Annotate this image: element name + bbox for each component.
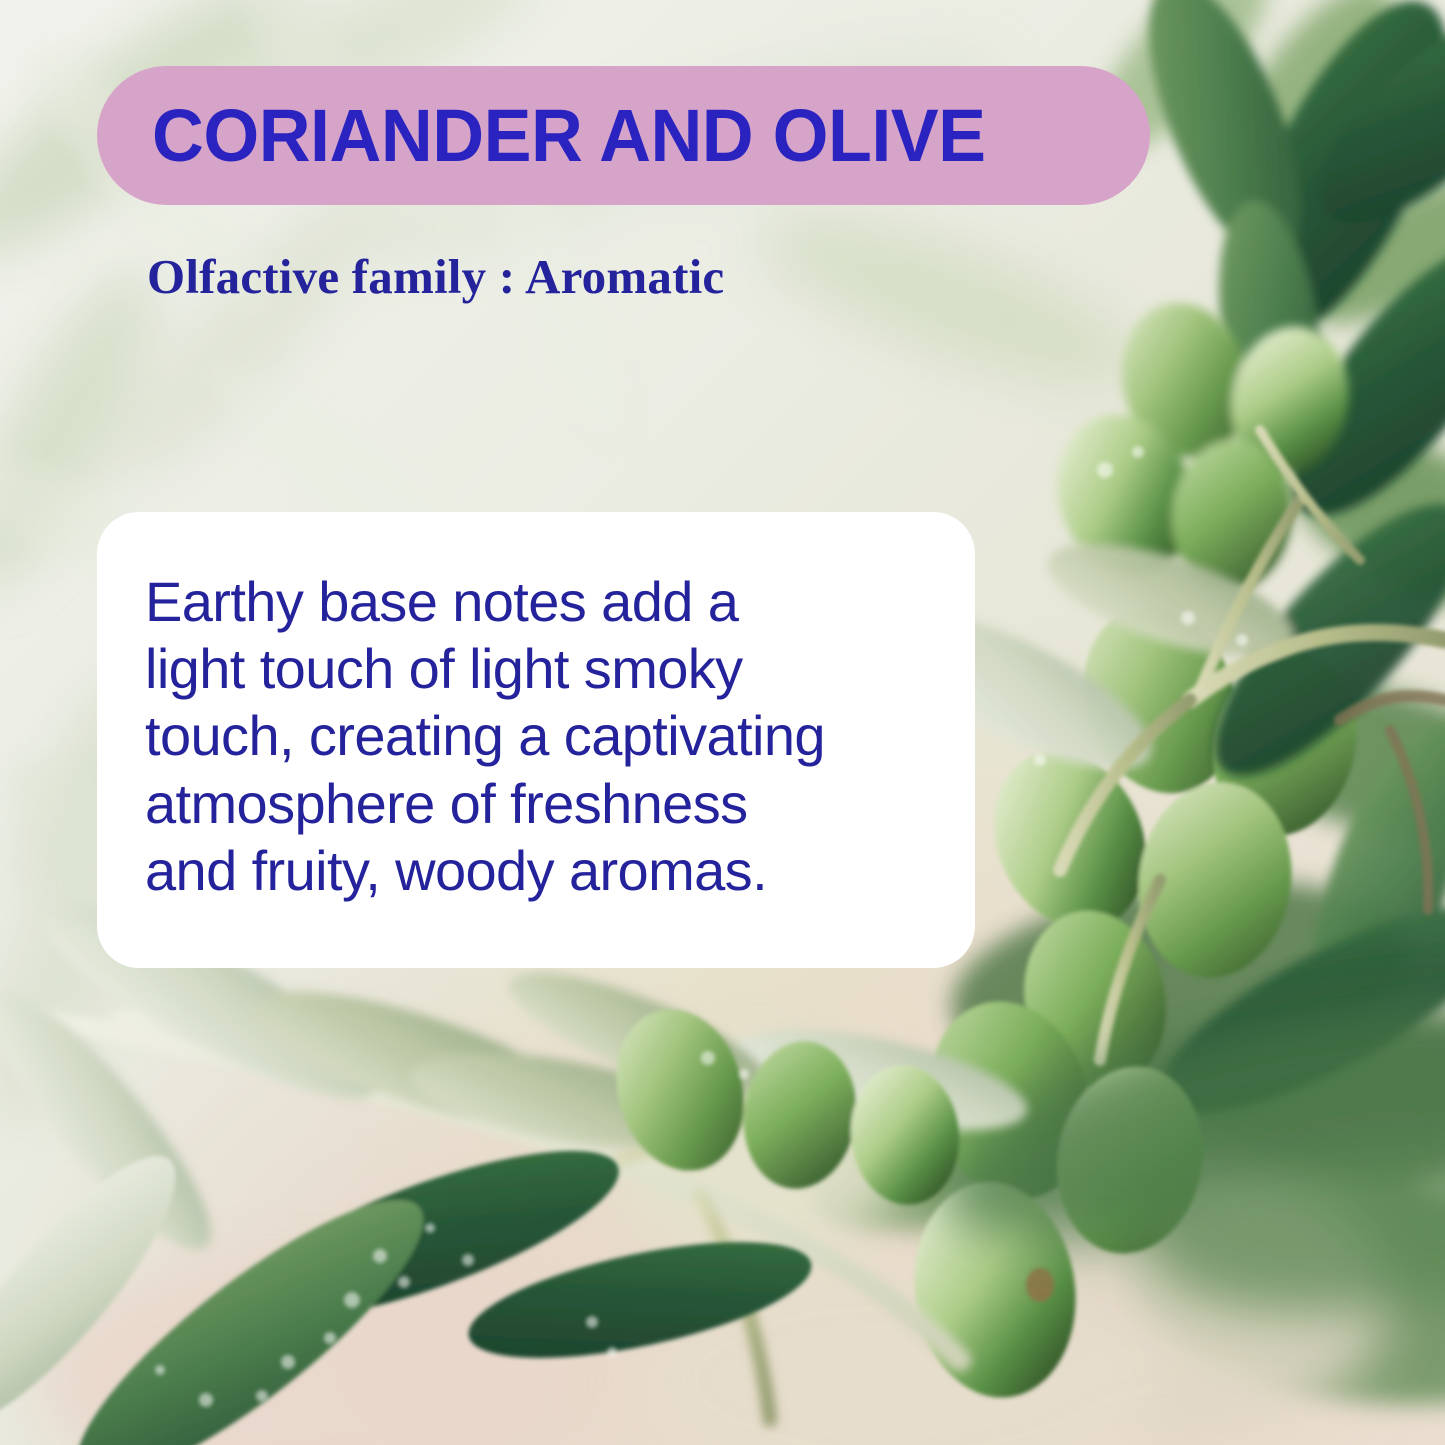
description-text: Earthy base notes add a light touch of l… — [145, 568, 945, 904]
page-title: CORIANDER AND OLIVE — [152, 99, 986, 173]
description-card: Earthy base notes add a light touch of l… — [97, 512, 975, 968]
olfactive-family-subtitle: Olfactive family : Aromatic — [147, 248, 724, 307]
title-banner: CORIANDER AND OLIVE — [97, 66, 1150, 205]
product-info-card: CORIANDER AND OLIVE Olfactive family : A… — [0, 0, 1445, 1445]
